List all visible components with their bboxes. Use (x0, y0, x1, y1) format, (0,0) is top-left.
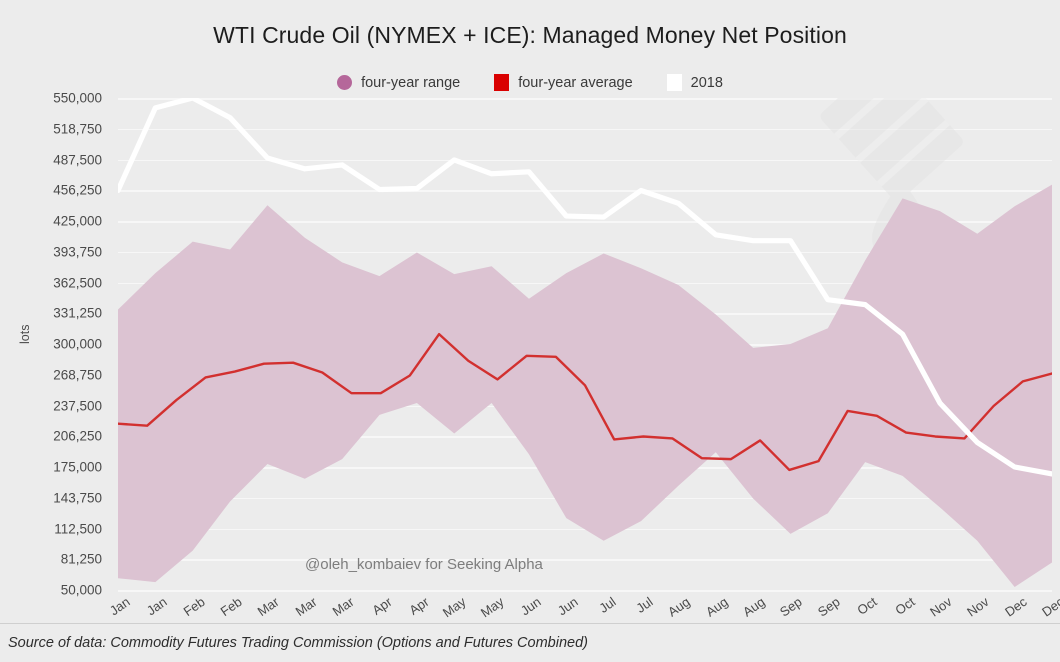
chart-container: WTI Crude Oil (NYMEX + ICE): Managed Mon… (0, 0, 1060, 662)
legend-label-average: four-year average (518, 75, 632, 91)
range-swatch-icon (337, 75, 352, 90)
y-tick-label: 81,250 (61, 552, 102, 567)
y-tick-label: 237,500 (53, 398, 102, 413)
legend-item-2018[interactable]: 2018 (667, 74, 723, 91)
y-tick-label: 268,750 (53, 367, 102, 382)
y-tick-label: 518,750 (53, 121, 102, 136)
legend-label-year: 2018 (691, 75, 723, 91)
source-footer: Source of data: Commodity Futures Tradin… (0, 623, 1060, 662)
y-tick-label: 393,750 (53, 244, 102, 259)
credit-watermark: @oleh_kombaiev for Seeking Alpha (305, 556, 543, 573)
y-tick-label: 175,000 (53, 460, 102, 475)
page-title: WTI Crude Oil (NYMEX + ICE): Managed Mon… (0, 22, 1060, 49)
y-tick-label: 143,750 (53, 490, 102, 505)
year-swatch-icon (667, 74, 682, 91)
average-swatch-icon (494, 74, 509, 91)
y-tick-label: 331,250 (53, 306, 102, 321)
y-axis-tick-labels: 550,000518,750487,500456,250425,000393,7… (0, 98, 112, 590)
y-tick-label: 550,000 (53, 91, 102, 106)
y-tick-label: 112,500 (54, 521, 102, 536)
y-tick-label: 456,250 (53, 183, 102, 198)
chart-canvas (118, 98, 1052, 590)
legend-item-four-year-range[interactable]: four-year range (337, 75, 460, 91)
source-text: Source of data: Commodity Futures Tradin… (0, 635, 588, 651)
legend-item-four-year-average[interactable]: four-year average (494, 74, 632, 91)
legend-label-range: four-year range (361, 75, 460, 91)
gridline (118, 590, 1052, 592)
y-tick-label: 487,500 (53, 152, 102, 167)
plot-area (118, 98, 1052, 590)
chart-legend: four-year range four-year average 2018 (0, 74, 1060, 91)
y-tick-label: 300,000 (53, 337, 102, 352)
y-tick-label: 425,000 (53, 214, 102, 229)
y-tick-label: 50,000 (61, 583, 102, 598)
y-tick-label: 362,500 (53, 275, 102, 290)
y-tick-label: 206,250 (53, 429, 102, 444)
